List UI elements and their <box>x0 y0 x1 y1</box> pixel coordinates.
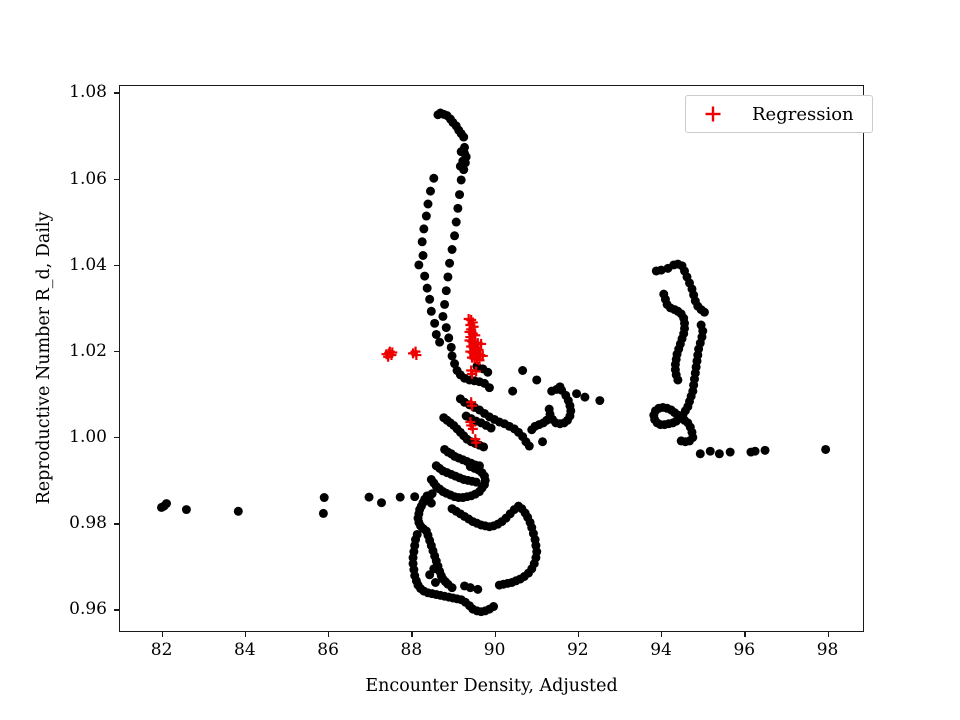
data-point-circle <box>525 442 534 451</box>
data-point-circle <box>487 424 496 433</box>
data-point-circle <box>377 498 386 507</box>
x-tick-label: 86 <box>317 640 339 660</box>
data-point-circle <box>418 237 427 246</box>
data-point-circle <box>532 375 541 384</box>
y-tick-label: 0.98 <box>69 513 107 533</box>
data-point-circle <box>447 343 456 352</box>
data-point-circle <box>595 396 604 405</box>
data-point-circle <box>319 509 328 518</box>
data-point-circle <box>443 272 452 281</box>
legend-plus-icon <box>700 105 726 123</box>
data-point-circle <box>410 492 419 501</box>
data-point-circle <box>431 578 440 587</box>
data-point-circle <box>448 351 457 360</box>
data-point-circle <box>455 190 464 199</box>
data-point-circle <box>518 366 527 375</box>
data-point-circle <box>365 493 374 502</box>
y-tick-mark <box>114 523 120 524</box>
x-axis-label: Encounter Density, Adjusted <box>119 676 864 696</box>
x-tick-mark <box>495 631 496 637</box>
legend-entry-label: Regression <box>752 104 858 125</box>
data-point-circle <box>761 446 770 455</box>
data-point-circle <box>545 405 554 414</box>
data-point-circle <box>485 383 494 392</box>
y-tick-mark <box>114 265 120 266</box>
data-point-circle <box>430 319 439 328</box>
y-axis-label: Reproductive Number R_d, Daily <box>34 212 54 505</box>
data-point-circle <box>821 445 830 454</box>
data-point-circle <box>419 224 428 233</box>
data-point-circle <box>460 581 469 590</box>
data-point-circle <box>419 251 428 260</box>
scatter-plot-figure: 828486889092949698 0.960.981.001.021.041… <box>0 0 960 720</box>
data-point-circle <box>677 436 686 445</box>
y-tick-mark <box>114 609 120 610</box>
plot-area: 828486889092949698 0.960.981.001.021.041… <box>119 85 864 632</box>
x-tick-mark <box>411 631 412 637</box>
data-point-circle <box>414 260 423 269</box>
data-point-circle <box>508 387 517 396</box>
data-point-circle <box>700 308 709 317</box>
x-tick-label: 92 <box>567 640 589 660</box>
data-point-circle <box>234 507 243 516</box>
data-point-circle <box>495 581 504 590</box>
data-points-layer <box>120 86 863 631</box>
y-tick-mark <box>114 437 120 438</box>
data-point-circle <box>572 389 581 398</box>
y-tick-label: 1.08 <box>69 82 107 102</box>
data-point-circle <box>444 333 453 342</box>
x-tick-mark <box>245 631 246 637</box>
x-tick-label: 96 <box>733 640 755 660</box>
x-tick-mark <box>828 631 829 637</box>
data-point-circle <box>425 295 434 304</box>
data-point-circle <box>422 212 431 221</box>
y-tick-label: 1.00 <box>69 427 107 447</box>
y-tick-mark <box>114 351 120 352</box>
data-point-circle <box>489 602 498 611</box>
data-point-circle <box>427 307 436 316</box>
x-tick-label: 90 <box>484 640 506 660</box>
x-tick-label: 82 <box>151 640 173 660</box>
data-point-circle <box>459 165 468 174</box>
data-point-circle <box>442 286 451 295</box>
chart-legend[interactable]: Regression <box>685 95 873 133</box>
data-point-circle <box>556 382 565 391</box>
data-point-circle <box>452 218 461 227</box>
data-point-circle <box>424 200 433 209</box>
data-point-circle <box>706 447 715 456</box>
data-point-circle <box>483 368 492 377</box>
data-point-circle <box>420 272 429 281</box>
data-point-circle <box>423 284 432 293</box>
data-point-circle <box>751 447 760 456</box>
data-point-circle <box>715 449 724 458</box>
y-tick-label: 1.02 <box>69 341 107 361</box>
data-point-circle <box>580 393 589 402</box>
data-point-circle <box>162 499 171 508</box>
data-point-circle <box>448 245 457 254</box>
data-point-circle <box>527 425 536 434</box>
series-observed <box>157 109 830 617</box>
data-point-circle <box>673 375 682 384</box>
data-point-circle <box>442 323 451 332</box>
data-point-circle <box>182 505 191 514</box>
data-point-circle <box>435 338 444 347</box>
data-point-circle <box>457 175 466 184</box>
data-point-circle <box>448 583 457 592</box>
data-point-circle <box>429 564 438 573</box>
data-point-circle <box>426 187 435 196</box>
data-point-circle <box>450 231 459 240</box>
y-tick-mark <box>114 179 120 180</box>
data-point-circle <box>473 585 482 594</box>
data-point-circle <box>440 300 449 309</box>
x-tick-label: 88 <box>401 640 423 660</box>
x-tick-mark <box>661 631 662 637</box>
data-point-circle <box>445 259 454 268</box>
x-tick-mark <box>744 631 745 637</box>
data-point-circle <box>479 442 488 451</box>
x-tick-mark <box>328 631 329 637</box>
data-point-circle <box>320 493 329 502</box>
data-point-circle <box>453 204 462 213</box>
x-tick-mark <box>578 631 579 637</box>
data-point-circle <box>432 330 441 339</box>
data-point-circle <box>438 312 447 321</box>
data-point-circle <box>538 437 547 446</box>
data-point-circle <box>726 448 735 457</box>
data-point-circle <box>429 174 438 183</box>
y-tick-label: 0.96 <box>69 599 107 619</box>
data-point-circle <box>396 493 405 502</box>
y-tick-label: 1.06 <box>69 169 107 189</box>
y-tick-label: 1.04 <box>69 255 107 275</box>
data-point-circle <box>696 449 705 458</box>
data-point-circle <box>459 133 468 142</box>
x-tick-label: 94 <box>650 640 672 660</box>
data-point-circle <box>466 462 475 471</box>
x-tick-label: 84 <box>234 640 256 660</box>
y-tick-mark <box>114 92 120 93</box>
x-tick-label: 98 <box>817 640 839 660</box>
x-tick-mark <box>162 631 163 637</box>
